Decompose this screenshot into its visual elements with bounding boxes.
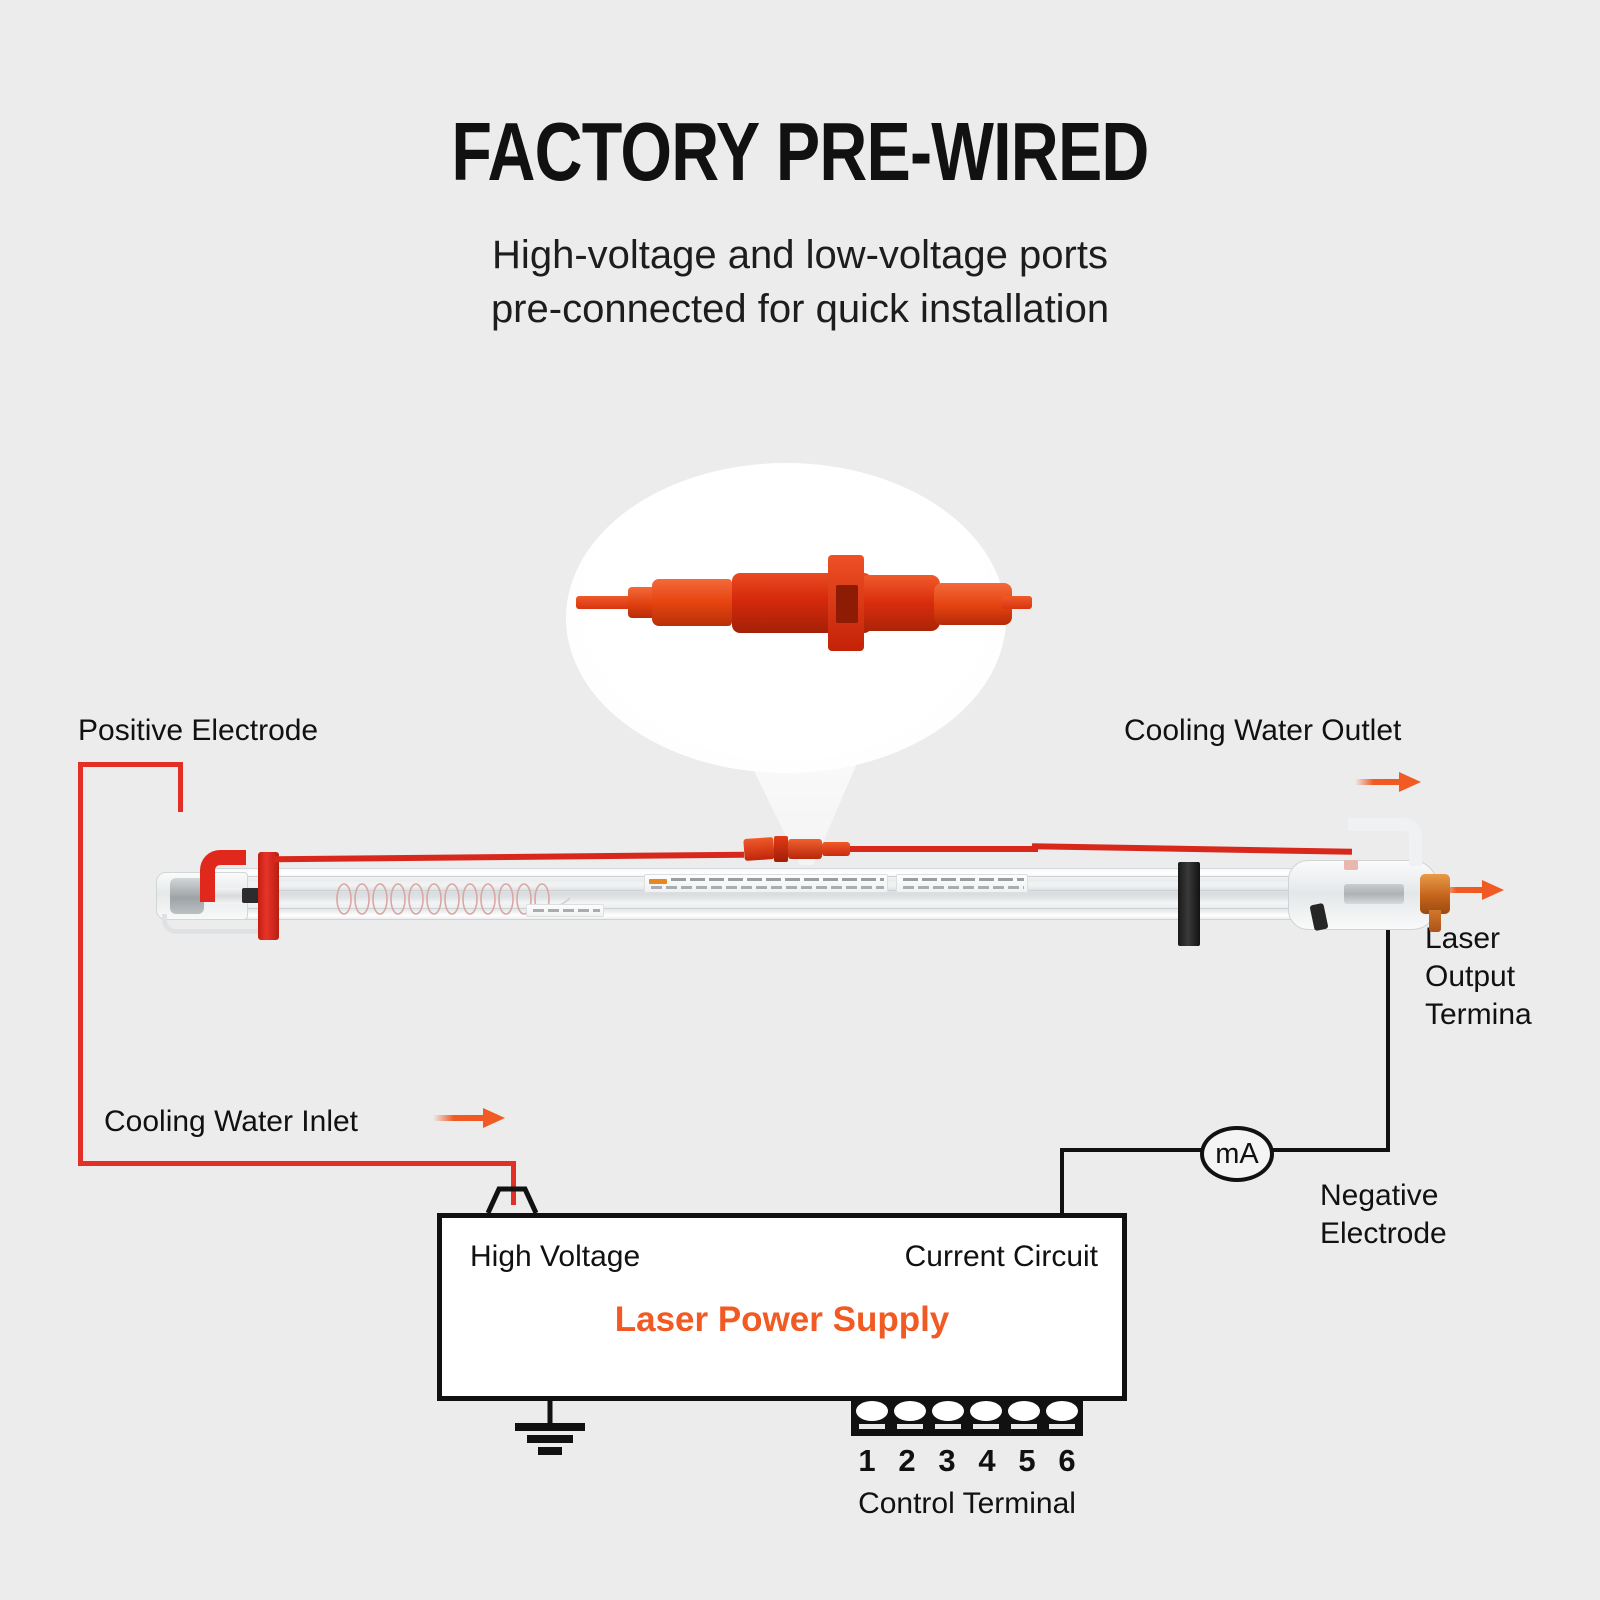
tube-connector-collar — [774, 836, 788, 862]
tube-rear-mirror — [170, 878, 204, 914]
arrow-right-icon-water-inlet — [433, 1108, 507, 1128]
hv-wire-tail-run — [1032, 843, 1352, 855]
arrow-right-icon-water-outlet — [1355, 772, 1421, 792]
terminal-number: 1 — [851, 1443, 883, 1479]
terminal-pin[interactable] — [970, 1401, 1002, 1429]
wire-positive-bottom — [78, 1161, 516, 1166]
negative-electrode-line-2: Electrode — [1320, 1215, 1447, 1253]
terminal-number: 3 — [931, 1443, 963, 1479]
label-laser-output-terminal: Laser Output Termina — [1425, 920, 1532, 1034]
connector-lead-right — [1002, 596, 1032, 609]
psu-current-circuit-label: Current Circuit — [905, 1240, 1098, 1274]
terminal-number: 4 — [971, 1443, 1003, 1479]
control-terminal-caption: Control Terminal — [851, 1487, 1083, 1521]
negative-electrode-line-1: Negative — [1320, 1177, 1447, 1215]
wire-positive-vertical — [78, 762, 83, 1166]
wire-positive-stub — [178, 762, 183, 812]
tube-spec-label-2 — [896, 874, 1028, 893]
earth-ground-icon — [513, 1401, 587, 1451]
terminal-pin[interactable] — [932, 1401, 964, 1429]
label-positive-electrode: Positive Electrode — [78, 712, 318, 750]
control-terminal-numbers: 1 2 3 4 5 6 — [851, 1443, 1083, 1479]
tube-red-collar — [258, 852, 279, 940]
tube-spec-label-1 — [644, 874, 888, 893]
terminal-pin[interactable] — [856, 1401, 888, 1429]
terminal-pin[interactable] — [1008, 1401, 1040, 1429]
subtitle-line-1: High-voltage and low-voltage ports — [0, 228, 1600, 282]
tube-serial-label — [526, 904, 604, 917]
connector-body-right — [862, 575, 940, 631]
hv-terminal-icon — [486, 1186, 538, 1214]
control-terminal-strip — [851, 1396, 1083, 1436]
page-subtitle: High-voltage and low-voltage ports pre-c… — [0, 228, 1600, 336]
terminal-pin[interactable] — [1046, 1401, 1078, 1429]
label-cooling-water-outlet: Cooling Water Outlet — [1124, 712, 1401, 750]
laser-output-line-3: Termina — [1425, 996, 1532, 1034]
tube-black-collar — [1178, 862, 1200, 946]
psu-high-voltage-label: High Voltage — [470, 1240, 640, 1274]
wire-meter-to-psu — [1060, 1148, 1202, 1152]
cooling-inlet-hose — [200, 850, 246, 902]
laser-output-terminal-nipple — [1429, 910, 1441, 932]
wire-positive-top — [78, 762, 183, 767]
terminal-number: 6 — [1051, 1443, 1083, 1479]
magnified-connector-illustration — [566, 463, 1006, 773]
connector-collar-notch — [836, 585, 858, 623]
tube-connector-tip — [822, 842, 850, 856]
terminal-pin[interactable] — [894, 1401, 926, 1429]
wire-negative-into-psu — [1060, 1148, 1064, 1216]
subtitle-line-2: pre-connected for quick installation — [0, 282, 1600, 336]
connector-tip-left — [628, 587, 654, 618]
laser-power-supply: High Voltage Current Circuit Laser Power… — [437, 1213, 1127, 1401]
laser-tube — [148, 846, 1414, 942]
laser-output-line-2: Output — [1425, 958, 1532, 996]
label-negative-electrode: Negative Electrode — [1320, 1177, 1447, 1253]
connector-tip-right — [934, 583, 1012, 625]
terminal-number: 5 — [1011, 1443, 1043, 1479]
connector-body-left — [652, 579, 732, 626]
tube-left-water-loop — [162, 914, 258, 934]
tube-output-chamber — [1344, 884, 1404, 904]
laser-output-line-1: Laser — [1425, 920, 1532, 958]
hv-wire-right-run — [848, 846, 1038, 852]
ammeter-icon: mA — [1200, 1126, 1274, 1182]
psu-title: Laser Power Supply — [442, 1300, 1122, 1340]
tube-connector-body-right — [788, 839, 822, 859]
tube-connector-body-left — [743, 837, 774, 861]
cooling-outlet-hose — [1348, 818, 1422, 866]
page-title: FACTORY PRE-WIRED — [160, 104, 1440, 200]
wire-negative-to-meter — [1272, 1148, 1390, 1152]
hv-wire-left-run — [274, 852, 744, 863]
laser-output-terminal-copper — [1420, 874, 1450, 914]
terminal-number: 2 — [891, 1443, 923, 1479]
label-cooling-water-inlet: Cooling Water Inlet — [104, 1103, 358, 1141]
cooling-outlet-hose-collar — [1344, 860, 1358, 870]
diagram-canvas: FACTORY PRE-WIRED High-voltage and low-v… — [0, 0, 1600, 1600]
